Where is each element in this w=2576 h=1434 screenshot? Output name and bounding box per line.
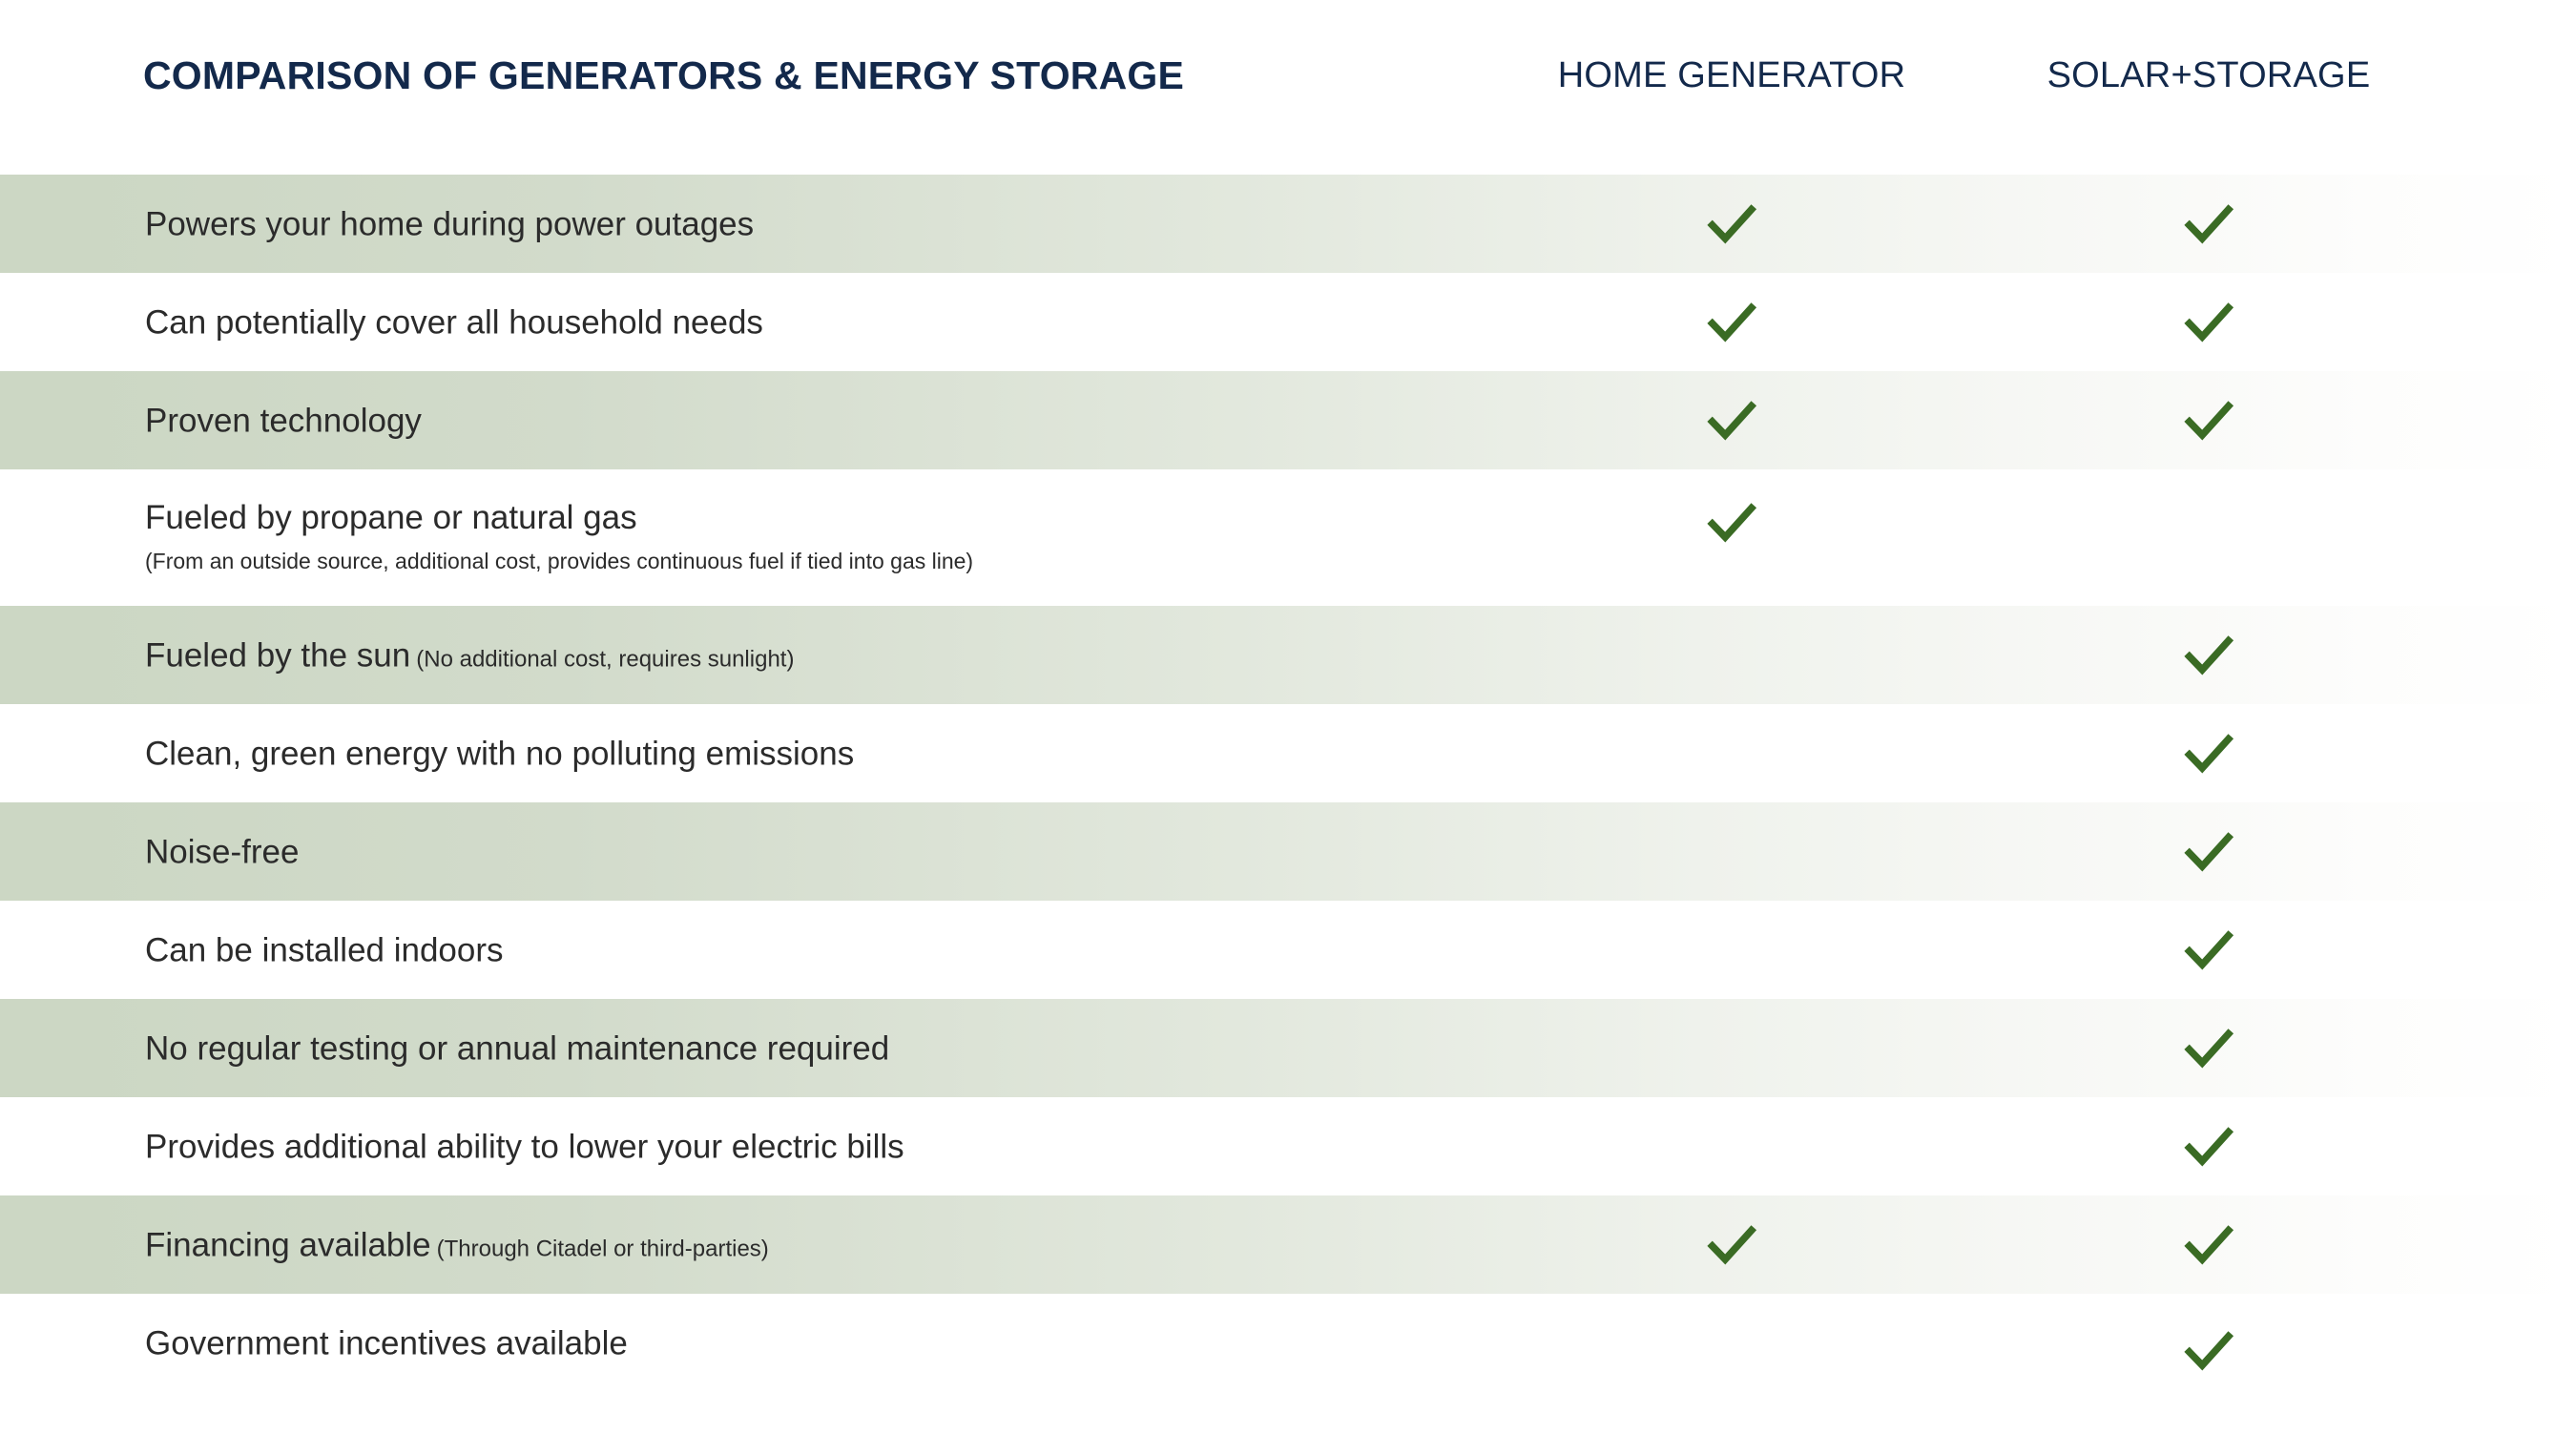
row-label: Fueled by propane or natural gas(From an… bbox=[145, 498, 973, 575]
row-label: Provides additional ability to lower you… bbox=[145, 1127, 904, 1166]
check-icon bbox=[2181, 1119, 2236, 1174]
row-note-inline: (Through Citadel or third-parties) bbox=[431, 1236, 769, 1261]
comparison-rows: Powers your home during power outagesCan… bbox=[0, 175, 2576, 1392]
row-label-text: No regular testing or annual maintenance… bbox=[145, 1029, 889, 1067]
row-label-text: Powers your home during power outages bbox=[145, 205, 754, 242]
table-row: Proven technology bbox=[0, 371, 2576, 469]
row-label-text: Can be installed indoors bbox=[145, 931, 504, 968]
row-label-text: Clean, green energy with no polluting em… bbox=[145, 735, 854, 772]
table-row: Can potentially cover all household need… bbox=[0, 273, 2576, 371]
row-label-text: Can potentially cover all household need… bbox=[145, 303, 763, 341]
row-label: Can potentially cover all household need… bbox=[145, 302, 763, 342]
check-icon bbox=[2181, 726, 2236, 781]
table-row: Provides additional ability to lower you… bbox=[0, 1097, 2576, 1195]
check-icon bbox=[2181, 1217, 2236, 1273]
check-icon bbox=[2181, 393, 2236, 448]
check-icon bbox=[1704, 1217, 1759, 1273]
row-label: Noise-free bbox=[145, 832, 299, 871]
table-row: Government incentives available bbox=[0, 1294, 2576, 1392]
row-label: Clean, green energy with no polluting em… bbox=[145, 734, 854, 773]
check-icon bbox=[2181, 824, 2236, 880]
check-icon bbox=[2181, 923, 2236, 978]
table-row: Can be installed indoors bbox=[0, 901, 2576, 999]
row-label: Financing available(Through Citadel or t… bbox=[145, 1225, 769, 1264]
row-label-text: Noise-free bbox=[145, 833, 299, 870]
table-row: Noise-free bbox=[0, 802, 2576, 901]
check-icon bbox=[1704, 295, 1759, 350]
row-label: No regular testing or annual maintenance… bbox=[145, 1029, 889, 1068]
table-row: Clean, green energy with no polluting em… bbox=[0, 704, 2576, 802]
row-label-text: Fueled by the sun bbox=[145, 636, 410, 674]
table-row: Financing available(Through Citadel or t… bbox=[0, 1195, 2576, 1294]
column-header-solar-storage: SOLAR+STORAGE bbox=[2047, 55, 2371, 96]
check-icon bbox=[2181, 197, 2236, 252]
table-row: No regular testing or annual maintenance… bbox=[0, 999, 2576, 1097]
row-label: Can be installed indoors bbox=[145, 930, 504, 969]
check-icon bbox=[1704, 197, 1759, 252]
check-icon bbox=[1704, 495, 1759, 551]
row-label-text: Financing available bbox=[145, 1226, 431, 1263]
row-note-block: (From an outside source, additional cost… bbox=[145, 549, 973, 575]
row-label-text: Proven technology bbox=[145, 402, 422, 439]
table-row: Fueled by propane or natural gas(From an… bbox=[0, 469, 2576, 606]
check-icon bbox=[1704, 393, 1759, 448]
table-row: Fueled by the sun(No additional cost, re… bbox=[0, 606, 2576, 704]
row-label-text: Fueled by propane or natural gas bbox=[145, 499, 637, 536]
check-icon bbox=[2181, 1323, 2236, 1379]
row-label: Powers your home during power outages bbox=[145, 204, 754, 243]
page-title: COMPARISON OF GENERATORS & ENERGY STORAG… bbox=[143, 53, 1184, 98]
row-label-text: Provides additional ability to lower you… bbox=[145, 1128, 904, 1165]
check-icon bbox=[2181, 295, 2236, 350]
row-label: Government incentives available bbox=[145, 1323, 628, 1362]
row-note-inline: (No additional cost, requires sunlight) bbox=[410, 646, 794, 672]
row-label: Fueled by the sun(No additional cost, re… bbox=[145, 635, 794, 675]
column-header-home-generator: HOME GENERATOR bbox=[1558, 55, 1906, 96]
comparison-table-header: COMPARISON OF GENERATORS & ENERGY STORAG… bbox=[0, 0, 2576, 175]
row-label: Proven technology bbox=[145, 401, 422, 440]
table-row: Powers your home during power outages bbox=[0, 175, 2576, 273]
check-icon bbox=[2181, 628, 2236, 683]
check-icon bbox=[2181, 1021, 2236, 1076]
row-label-text: Government incentives available bbox=[145, 1324, 628, 1361]
